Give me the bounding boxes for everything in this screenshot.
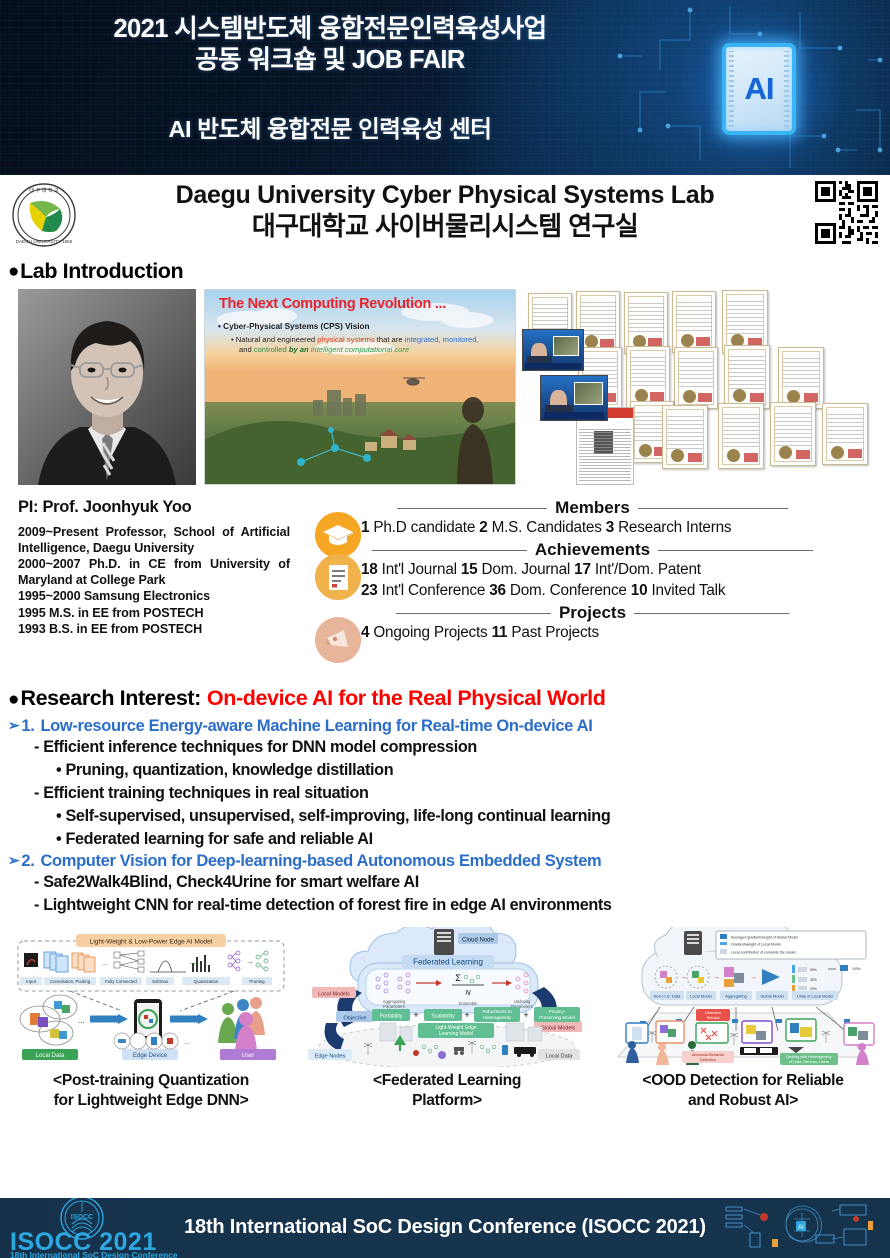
lab-introduction-media-row: The Next Computing Revolution ... • Cybe…: [0, 289, 890, 494]
svg-text:of Data, Devices, Users: of Data, Devices, Users: [789, 1060, 829, 1064]
research-interest-list: ➢ 1. Low-resource Energy-aware Machine L…: [8, 717, 890, 917]
caption-line: and Robust AI>: [600, 1091, 886, 1111]
lab-title-block: Daegu University Cyber Physical Systems …: [0, 175, 890, 241]
research-interest-section: ● Research Interest: On-device AI for th…: [8, 686, 890, 917]
svg-text:→: →: [680, 974, 687, 981]
cps-vision-slide-image: The Next Computing Revolution ... • Cybe…: [204, 289, 516, 485]
banner-line-3: AI 반도체 융합전문 인력육성 센터: [168, 110, 491, 144]
stat-label: Projects: [559, 603, 626, 623]
svg-text:Input: Input: [26, 979, 37, 984]
svg-text:Softmax: Softmax: [152, 979, 169, 984]
stat-label: Achievements: [535, 540, 650, 560]
caption-line: <Federated Learning: [306, 1071, 588, 1091]
research-sub-item: • Pruning, quantization, knowledge disti…: [56, 759, 890, 782]
svg-text:→: →: [713, 974, 720, 981]
stat-block-projects: Projects 4 Ongoing Projects 11 Past Proj…: [305, 603, 880, 643]
caption-figure-b: <Federated Learning Platform>: [306, 1071, 588, 1111]
svg-text:Convolution, Pooling: Convolution, Pooling: [50, 979, 91, 984]
chip-body: AI: [722, 43, 796, 135]
svg-text:Parameters: Parameters: [383, 1004, 405, 1009]
chip-ai-label: AI: [745, 71, 774, 107]
certificate: [626, 346, 670, 408]
figure-captions-row: <Post-training Quantization for Lightwei…: [0, 1071, 890, 1125]
stat-values-projects: 4 Ongoing Projects 11 Past Projects: [361, 623, 880, 643]
figure-b-chip-robustness: Robustness to: [482, 1009, 512, 1014]
lab-header: 대 구 대 학 교 DAEGU UNIVERSITY 1956: [0, 175, 890, 257]
figure-post-training-quantization: Light-Weight & Low-Power Edge AI Model .…: [10, 927, 292, 1067]
stat-row: 4 Ongoing Projects 11 Past Projects: [361, 623, 880, 643]
figure-a-local-data-label: Local Data: [36, 1053, 65, 1059]
research-interest-heading: ● Research Interest: On-device AI for th…: [8, 686, 890, 711]
research-item-title: Low-resource Energy-aware Machine Learni…: [40, 717, 592, 736]
megaphone-icon: [315, 617, 361, 663]
svg-text:Quantization: Quantization: [194, 979, 219, 984]
research-interest-label: Research Interest:: [20, 686, 200, 711]
tv-news-screenshot: [522, 329, 584, 371]
ai-chip-graphic: AI: [664, 14, 854, 164]
lab-introduction-label: Lab Introduction: [20, 259, 183, 284]
pi-name-label: PI: Prof. Joonhyuk Yoo: [18, 498, 191, 517]
figure-b-local-models-label: Local Models: [318, 992, 350, 998]
svg-text:→: →: [246, 957, 254, 966]
figure-c-legend-1: Averaged gradient/weight of Global Model: [731, 936, 798, 940]
research-item-2: ➢ 2. Computer Vision for Deep-learning-b…: [8, 852, 890, 871]
svg-text:+: +: [413, 1010, 418, 1020]
pi-biography: 2009~Present Professor, School of Artifi…: [18, 524, 290, 637]
svg-text:→: →: [750, 974, 757, 981]
bio-line: 2009~Present Professor, School of Artifi…: [18, 524, 290, 556]
svg-text:...: ...: [102, 960, 108, 967]
top-banner: 2021 시스템반도체 융합전문인력육성사업 공동 워크숍 및 JOB FAIR…: [0, 0, 890, 175]
caption-figure-c: <OOD Detection for Reliable and Robust A…: [600, 1071, 886, 1111]
certificate: [674, 347, 718, 409]
figure-c-stage-3: Aggregating: [725, 994, 747, 999]
stat-header-projects: Projects: [305, 603, 880, 623]
stat-block-achievements: Achievements 18 Int'l Journal 15 Dom. Jo…: [305, 540, 880, 601]
figure-b-cloud-title: Federated Learning: [413, 958, 483, 967]
bullet-dot-icon: ●: [8, 262, 19, 281]
isocc-subtitle: 18th International SoC Design Conference: [10, 1250, 178, 1258]
figure-b-objective-label: Objective: [343, 1016, 366, 1022]
research-sub-item: • Self-supervised, unsupervised, self-im…: [56, 805, 890, 828]
figure-c-abnormal-label: Abnormal Behavior: [692, 1053, 725, 1057]
caption-figure-a: <Post-training Quantization for Lightwei…: [6, 1071, 296, 1111]
figure-federated-learning: Cloud Node Federated Learning Σ N Aggreg…: [306, 927, 588, 1067]
figure-b-edge-nodes-label: Edge Nodes: [315, 1054, 346, 1060]
figure-c-stage-1: Non-I.I.D. Data: [654, 994, 681, 999]
figures-row: Light-Weight & Low-Power Edge AI Model .…: [0, 927, 890, 1067]
svg-text:100%: 100%: [852, 967, 861, 971]
awards-certificates-collage: [522, 289, 878, 485]
figure-a-banner-label: Light-Weight & Low-Power Edge AI Model: [90, 939, 213, 946]
footer-bar: ISOCC ISOCC 2021 18th International SoC …: [0, 1198, 890, 1258]
banner-line-2: 공동 워크숍 및 JOB FAIR: [195, 45, 464, 76]
lab-title-english: Daegu University Cyber Physical Systems …: [0, 181, 890, 209]
svg-text:...: ...: [78, 1016, 85, 1025]
daegu-university-logo: 대 구 대 학 교 DAEGU UNIVERSITY 1956: [8, 181, 80, 249]
svg-text:+: +: [464, 1010, 469, 1020]
svg-text:Learning Model: Learning Model: [439, 1031, 473, 1037]
figure-c-legend-2: Gradient/weight of Local Model: [731, 943, 781, 947]
figure-b-local-data-label: Local Data: [546, 1054, 574, 1060]
svg-text:50%: 50%: [810, 968, 817, 972]
svg-text:Pruning: Pruning: [249, 979, 265, 984]
lab-title-korean: 대구대학교 사이버물리시스템 연구실: [0, 211, 890, 241]
figure-c-stage-5: Unity of Local Model: [797, 994, 833, 999]
research-interest-value: On-device AI for the Real Physical World: [207, 686, 606, 711]
research-item-number: 2.: [21, 852, 34, 871]
stat-row: 18 Int'l Journal 15 Dom. Journal 17 Int'…: [361, 560, 880, 580]
caption-line: Platform>: [306, 1091, 588, 1111]
bio-line: 1995 M.S. in EE from POSTECH: [18, 605, 290, 621]
research-sub-item: • Federated learning for safe and reliab…: [56, 828, 890, 851]
svg-text:DAEGU UNIVERSITY 1956: DAEGU UNIVERSITY 1956: [16, 239, 73, 244]
svg-text:...: ...: [184, 1039, 190, 1046]
svg-text:20%: 20%: [810, 987, 817, 991]
figure-b-cloud-node-label: Cloud Node: [462, 938, 494, 944]
tv-news-screenshot: [540, 375, 608, 421]
stat-label: Members: [555, 498, 630, 518]
cps-slide-title: The Next Computing Revolution ...: [219, 296, 446, 312]
svg-text:30%: 30%: [810, 978, 817, 982]
figure-c-detection-refusal: Detection: [705, 1011, 721, 1015]
research-item-1: ➢ 1. Low-resource Energy-aware Machine L…: [8, 717, 890, 736]
figure-a-edge-device-label: Edge Device: [133, 1053, 168, 1059]
figure-a-user-label: User: [242, 1053, 255, 1059]
certificate: [724, 345, 770, 409]
certificate: [778, 347, 824, 409]
cps-slide-bullet-1: • Cyber-Physical Systems (CPS) Vision: [218, 322, 370, 331]
bio-line: 2000~2007 Ph.D. in CE from University of…: [18, 556, 290, 588]
arrow-bullet-icon: ➢: [8, 717, 19, 735]
banner-text-block: 2021 시스템반도체 융합전문인력육성사업 공동 워크숍 및 JOB FAIR…: [0, 0, 660, 175]
pi-portrait-photo: [18, 289, 196, 485]
document-icon: [315, 554, 361, 600]
research-sub-item: - Efficient training techniques in real …: [34, 782, 890, 805]
cps-slide-bullet-2: • Natural and engineered physical system…: [231, 335, 506, 356]
svg-text:Heterogeneity: Heterogeneity: [483, 1015, 512, 1020]
bullet-dot-icon: ●: [8, 690, 19, 709]
lab-statistics: Members 1 Ph.D candidate 2 M.S. Candidat…: [305, 498, 880, 646]
research-item-title: Computer Vision for Deep-learning-based …: [40, 852, 601, 871]
certificate: [718, 403, 764, 469]
section-heading-lab-introduction: ● Lab Introduction: [8, 259, 890, 284]
caption-line: <OOD Detection for Reliable: [600, 1071, 886, 1091]
bio-and-stats-row: PI: Prof. Joonhyuk Yoo 2009~Present Prof…: [0, 498, 890, 682]
figure-c-heterogeneity-label: Dealing with Heterogeneity: [786, 1055, 831, 1059]
research-item-number: 1.: [21, 717, 34, 736]
bio-line: 1993 B.S. in EE from POSTECH: [18, 621, 290, 637]
svg-text:Detection: Detection: [700, 1058, 716, 1062]
svg-text:대 구 대 학 교: 대 구 대 학 교: [29, 186, 59, 194]
stat-values-achievements: 18 Int'l Journal 15 Dom. Journal 17 Int'…: [361, 560, 880, 601]
banner-line-1: 2021 시스템반도체 융합전문인력육성사업: [113, 14, 546, 44]
svg-text:+: +: [523, 1010, 528, 1020]
svg-text:→: →: [188, 957, 197, 967]
figure-b-chip-privacy: Privacy-: [549, 1009, 566, 1014]
qr-code[interactable]: [815, 181, 878, 244]
stat-row: 1 Ph.D candidate 2 M.S. Candidates 3 Res…: [361, 518, 880, 538]
figure-b-ensemble-label: Ensemble: [459, 1001, 478, 1006]
svg-text:AI: AI: [798, 1225, 804, 1231]
figure-ood-detection: Averaged gradient/weight of Global Model…: [600, 927, 884, 1067]
certificate: [662, 405, 708, 469]
svg-text:Refusal: Refusal: [707, 1016, 720, 1020]
arrow-bullet-icon: ➢: [8, 852, 19, 870]
research-sub-item: - Lightweight CNN for real-time detectio…: [34, 894, 890, 917]
stat-values-members: 1 Ph.D candidate 2 M.S. Candidates 3 Res…: [361, 518, 880, 538]
svg-text:Fully Connected: Fully Connected: [105, 979, 137, 984]
certificate: [624, 292, 668, 354]
stat-row: 23 Int'l Conference 36 Dom. Conference 1…: [361, 581, 880, 601]
caption-line: <Post-training Quantization: [6, 1071, 296, 1091]
figure-b-global-models-label: Global Models: [541, 1026, 576, 1032]
footer-decorative-illustration: AI: [720, 1199, 880, 1257]
svg-text:Preserving Model: Preserving Model: [539, 1015, 575, 1020]
figure-c-legend-3: Local contribution of complete the model: [731, 951, 796, 955]
certificate: [770, 402, 816, 466]
caption-line: for Lightweight Edge DNN>: [6, 1091, 296, 1111]
figure-c-stage-4: Global Model: [760, 994, 784, 999]
figure-b-chip-portability: Portability: [380, 1014, 403, 1020]
bio-line: 1995~2000 Samsung Electronics: [18, 588, 290, 604]
figure-b-chip-scalability: Scalability: [431, 1014, 455, 1020]
research-sub-item: - Efficient inference techniques for DNN…: [34, 736, 890, 759]
certificate: [672, 291, 716, 353]
figure-c-stage-2: Local Model: [690, 994, 712, 999]
stat-header-achievements: Achievements: [305, 540, 880, 560]
certificate: [822, 403, 868, 465]
research-sub-item: - Safe2Walk4Blind, Check4Urine for smart…: [34, 871, 890, 894]
svg-text:Σ: Σ: [455, 973, 461, 983]
stat-header-members: Members: [305, 498, 880, 518]
stat-block-members: Members 1 Ph.D candidate 2 M.S. Candidat…: [305, 498, 880, 538]
